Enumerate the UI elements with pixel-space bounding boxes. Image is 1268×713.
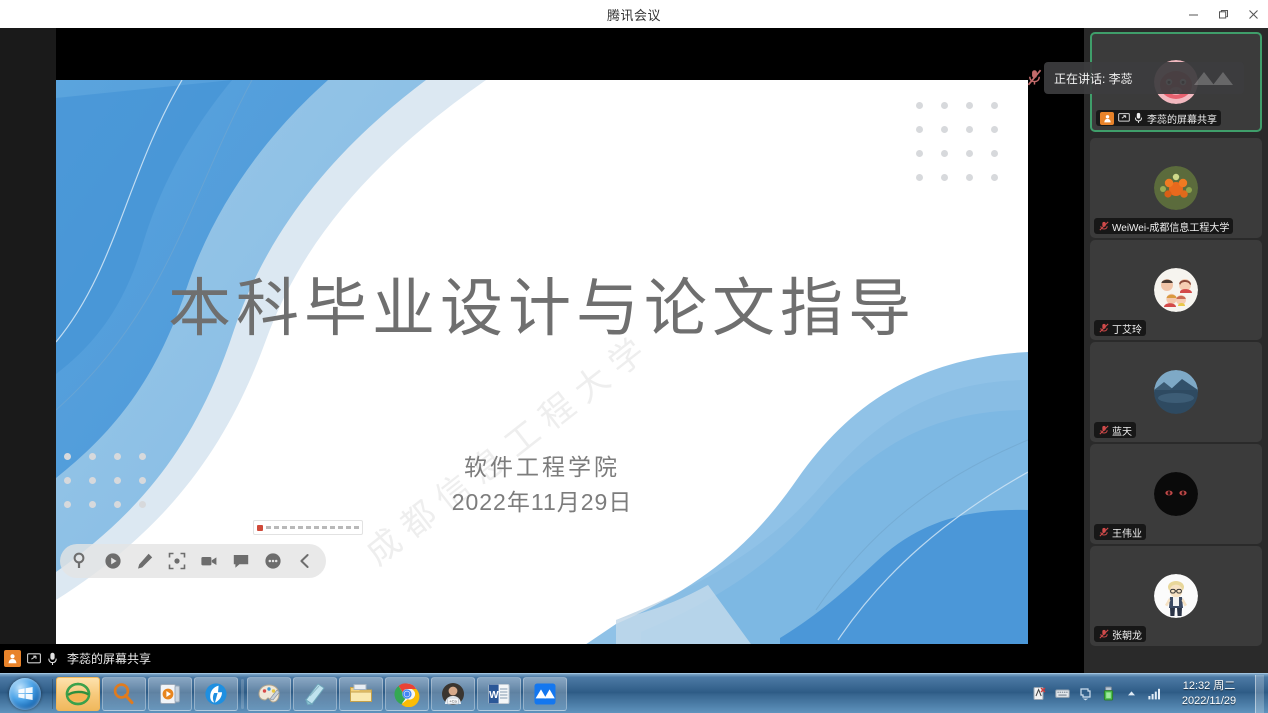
dot-grid-top-right: [916, 102, 1016, 198]
participant-rail[interactable]: 李蕊的屏幕共享 WeiWei-成都信息工程大学: [1084, 28, 1268, 673]
camera-icon[interactable]: [198, 550, 220, 572]
show-desktop-button[interactable]: [1255, 675, 1264, 713]
person-badge-icon: [1100, 112, 1114, 125]
participant-name: 张朝龙: [1112, 627, 1142, 642]
microphone-icon: [46, 651, 59, 666]
comment-icon[interactable]: [230, 550, 252, 572]
taskbar-separator: [241, 679, 244, 709]
speaking-toast-label: 正在讲话: 李蕊: [1054, 70, 1133, 87]
mic-muted-icon: [1098, 527, 1109, 538]
participant-name: 李蕊的屏幕共享: [1147, 111, 1217, 126]
participant-tile-2[interactable]: 丁艾玲: [1090, 240, 1262, 340]
tray-show-hidden-icon[interactable]: [1077, 685, 1094, 702]
participant-tile-3[interactable]: 蓝天: [1090, 342, 1262, 442]
laser-pointer-icon[interactable]: [70, 550, 92, 572]
participant-name: 丁艾玲: [1112, 321, 1142, 336]
tray-up-arrow-icon[interactable]: [1123, 685, 1140, 702]
tencent-meeting-window: 腾讯会议: [0, 0, 1268, 713]
ppt-presenter-toolbar[interactable]: [60, 544, 326, 578]
stage-left-gutter: [0, 28, 56, 673]
avatar: [1154, 268, 1198, 312]
windows-taskbar[interactable]: +Ca W: [0, 673, 1268, 713]
taskbar-divider: [52, 679, 53, 709]
pen-icon[interactable]: [134, 550, 156, 572]
participant-name-chip-4: 王伟业: [1094, 524, 1146, 540]
tray-usb-icon[interactable]: [1100, 685, 1117, 702]
taskbar-flash[interactable]: [194, 677, 238, 711]
play-icon[interactable]: [102, 550, 124, 572]
mic-muted-icon: [1098, 221, 1109, 232]
taskbar-explorer[interactable]: [339, 677, 383, 711]
restore-button[interactable]: [1208, 0, 1238, 28]
taskbar-paint[interactable]: [247, 677, 291, 711]
taskbar-ie[interactable]: [56, 677, 100, 711]
avatar: [1154, 166, 1198, 210]
participant-name-chip-1: WeiWei-成都信息工程大学: [1094, 218, 1233, 234]
participant-name: WeiWei-成都信息工程大学: [1112, 219, 1229, 234]
taskbar-chrome[interactable]: [385, 677, 429, 711]
svg-text:W: W: [489, 690, 499, 701]
close-button[interactable]: [1238, 0, 1268, 28]
clock-time: 12:32 周二: [1183, 679, 1236, 694]
system-tray[interactable]: 12:32 周二 2022/11/29: [1031, 674, 1268, 713]
clock-date: 2022/11/29: [1182, 694, 1236, 709]
participant-tile-5[interactable]: 张朝龙: [1090, 546, 1262, 646]
taskbar-photo[interactable]: +Ca: [431, 677, 475, 711]
start-button[interactable]: [0, 675, 50, 713]
screen-share-status-bar: 李蕊的屏幕共享: [0, 644, 1084, 673]
shared-screen-stage: 成都信息工程大学 本科毕业设计与论文指导 软件工程学院 2022年11月29日: [0, 28, 1084, 673]
window-controls: [1178, 0, 1268, 28]
minimize-button[interactable]: [1178, 0, 1208, 28]
ppt-hint-strip: [253, 520, 363, 535]
participant-name-chip-0: 李蕊的屏幕共享: [1096, 110, 1221, 126]
screen-share-icon: [26, 652, 41, 665]
tencent-meeting-logo-icon: [1192, 69, 1236, 87]
mic-muted-icon: [1098, 629, 1109, 640]
participant-name-chip-5: 张朝龙: [1094, 626, 1146, 642]
screen-share-label: 李蕊的屏幕共享: [67, 650, 151, 667]
person-badge-icon: [4, 650, 21, 667]
tray-network-icon[interactable]: [1146, 685, 1163, 702]
speaking-toast: 正在讲话: 李蕊: [1044, 62, 1244, 94]
mic-muted-icon: [1098, 323, 1109, 334]
spotlight-icon[interactable]: [166, 550, 188, 572]
ppt-hint-lines: [266, 526, 359, 529]
participant-tile-1[interactable]: WeiWei-成都信息工程大学: [1090, 138, 1262, 238]
taskbar-tencent-meeting[interactable]: [523, 677, 567, 711]
participant-name: 王伟业: [1112, 525, 1142, 540]
participant-name-chip-3: 蓝天: [1094, 422, 1136, 438]
ppt-hint-marker: [257, 525, 263, 531]
tray-input-method-icon[interactable]: [1031, 685, 1048, 702]
windows-logo-icon: [9, 678, 41, 710]
presentation-slide: 成都信息工程大学 本科毕业设计与论文指导 软件工程学院 2022年11月29日: [56, 80, 1028, 651]
taskbar-clock[interactable]: 12:32 周二 2022/11/29: [1169, 675, 1249, 713]
avatar: [1154, 472, 1198, 516]
window-title: 腾讯会议: [607, 5, 661, 24]
taskbar-word[interactable]: W: [477, 677, 521, 711]
avatar: [1154, 370, 1198, 414]
avatar: [1154, 574, 1198, 618]
participant-name-chip-2: 丁艾玲: [1094, 320, 1146, 336]
slide-title: 本科毕业设计与论文指导: [56, 258, 1028, 349]
svg-text:+Ca: +Ca: [449, 698, 457, 703]
participant-name: 蓝天: [1112, 423, 1132, 438]
title-bar: 腾讯会议: [0, 0, 1268, 28]
tray-keyboard-icon[interactable]: [1054, 685, 1071, 702]
taskbar-search[interactable]: [102, 677, 146, 711]
taskbar-notes[interactable]: [293, 677, 337, 711]
slide-subtitle: 软件工程学院: [56, 448, 1028, 482]
microphone-icon: [1133, 112, 1144, 124]
toast-mic-muted-icon: [1026, 68, 1043, 87]
taskbar-media[interactable]: [148, 677, 192, 711]
slide-date: 2022年11月29日: [56, 483, 1028, 517]
more-icon[interactable]: [262, 550, 284, 572]
participant-tile-4[interactable]: 王伟业: [1090, 444, 1262, 544]
screen-share-icon: [1117, 112, 1130, 124]
mic-muted-icon: [1098, 425, 1109, 436]
back-icon[interactable]: [294, 550, 316, 572]
